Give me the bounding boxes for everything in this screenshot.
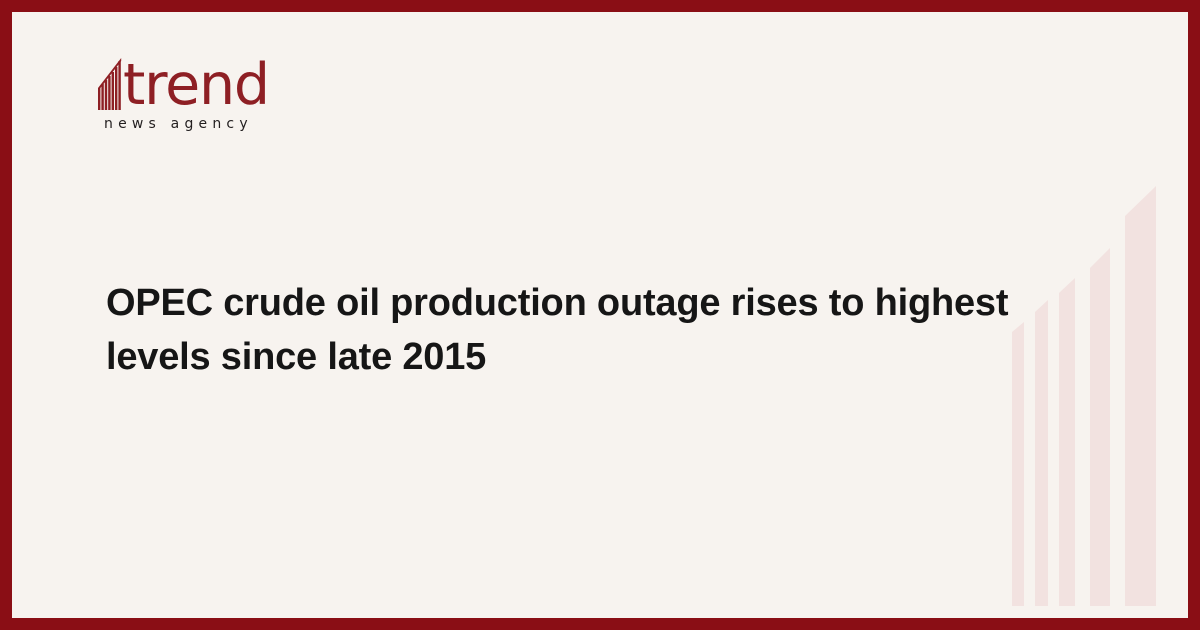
brand-logo[interactable]: trend news agency [98, 46, 358, 142]
brand-tagline: news agency [104, 116, 358, 132]
logo-mark-row: trend [98, 46, 358, 110]
ascending-bars-icon [98, 58, 124, 110]
article-headline: OPEC crude oil production outage rises t… [106, 276, 1016, 384]
brand-wordmark: trend [123, 56, 269, 114]
article-card: trend news agency OPEC crude oil product… [0, 0, 1200, 630]
